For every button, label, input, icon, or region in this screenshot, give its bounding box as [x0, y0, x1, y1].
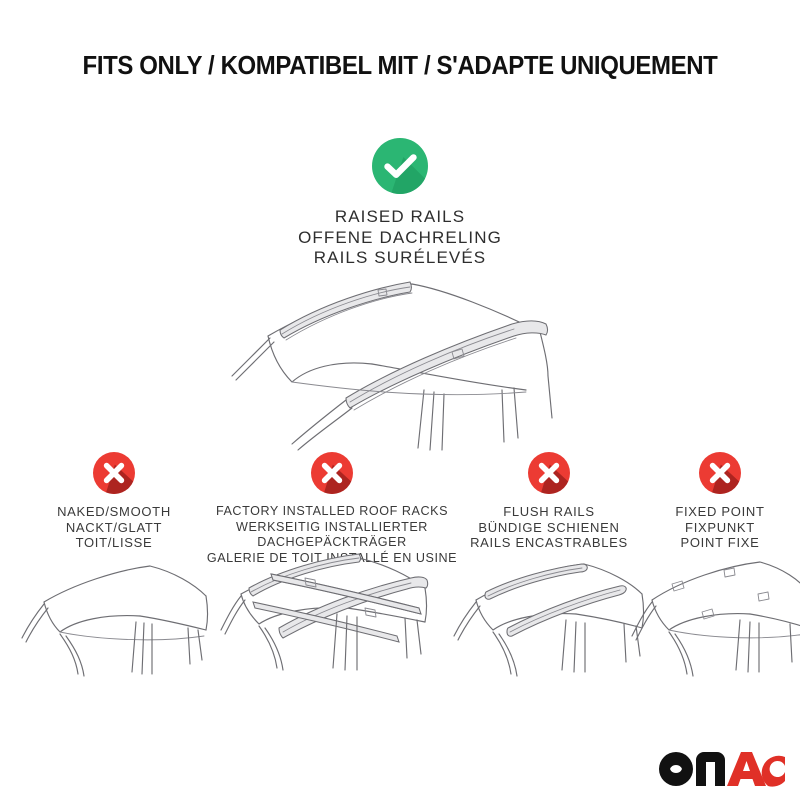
item-label-de-1: WERKSEITIG INSTALLIERTER	[206, 520, 458, 536]
logo-letter-m	[696, 752, 725, 786]
x-circle-icon	[311, 452, 353, 494]
logo-letter-c	[762, 756, 785, 787]
omac-logo	[655, 748, 787, 790]
x-mark-glyph	[93, 452, 135, 494]
car-roof-bare-smooth-illustration	[14, 552, 214, 682]
x-mark-glyph	[699, 452, 741, 494]
x-mark-glyph	[311, 452, 353, 494]
item-label-en: FIXED POINT	[640, 504, 800, 520]
not-compatible-section: NAKED/SMOOTH NACKT/GLATT TOIT/LISSE	[0, 452, 800, 702]
item-labels: FIXED POINT FIXPUNKT POINT FIXE	[640, 504, 800, 551]
x-circle-icon	[699, 452, 741, 494]
x-circle-icon	[93, 452, 135, 494]
check-circle-icon	[372, 138, 428, 194]
car-roof-with-factory-crossbars-illustration	[219, 548, 445, 686]
approved-label-de: OFFENE DACHRELING	[0, 228, 800, 249]
item-label-de: BÜNDIGE SCHIENEN	[452, 520, 646, 536]
approved-label-en: RAISED RAILS	[0, 207, 800, 228]
not-compatible-item-flush-rails: FLUSH RAILS BÜNDIGE SCHIENEN RAILS ENCAS…	[452, 452, 646, 551]
item-label-en: FACTORY INSTALLED ROOF RACKS	[206, 504, 458, 520]
item-labels: FLUSH RAILS BÜNDIGE SCHIENEN RAILS ENCAS…	[452, 504, 646, 551]
car-roof-with-fixed-points-illustration	[628, 548, 800, 686]
item-label-de: NACKT/GLATT	[16, 520, 212, 536]
item-labels: NAKED/SMOOTH NACKT/GLATT TOIT/LISSE	[16, 504, 212, 551]
logo-letter-o	[659, 752, 693, 786]
x-mark-glyph	[528, 452, 570, 494]
not-compatible-item-factory-racks: FACTORY INSTALLED ROOF RACKS WERKSEITIG …	[206, 452, 458, 566]
not-compatible-item-fixed-point: FIXED POINT FIXPUNKT POINT FIXE	[640, 452, 800, 551]
page-title: FITS ONLY / KOMPATIBEL MIT / S'ADAPTE UN…	[24, 52, 776, 81]
item-label-fr: TOIT/LISSE	[16, 535, 212, 551]
approved-section: RAISED RAILS OFFENE DACHRELING RAILS SUR…	[0, 138, 800, 269]
item-label-fr: RAILS ENCASTRABLES	[452, 535, 646, 551]
item-label-de: FIXPUNKT	[640, 520, 800, 536]
item-label-en: NAKED/SMOOTH	[16, 504, 212, 520]
car-roof-with-flush-rails-illustration	[448, 552, 650, 684]
car-roof-with-raised-rails-illustration	[196, 278, 604, 450]
x-circle-icon	[528, 452, 570, 494]
check-mark-glyph	[372, 138, 428, 194]
item-label-en: FLUSH RAILS	[452, 504, 646, 520]
logo-letter-a	[727, 752, 766, 786]
not-compatible-item-naked-smooth: NAKED/SMOOTH NACKT/GLATT TOIT/LISSE	[16, 452, 212, 551]
approved-label-fr: RAILS SURÉLEVÉS	[0, 248, 800, 269]
approved-labels: RAISED RAILS OFFENE DACHRELING RAILS SUR…	[0, 207, 800, 269]
